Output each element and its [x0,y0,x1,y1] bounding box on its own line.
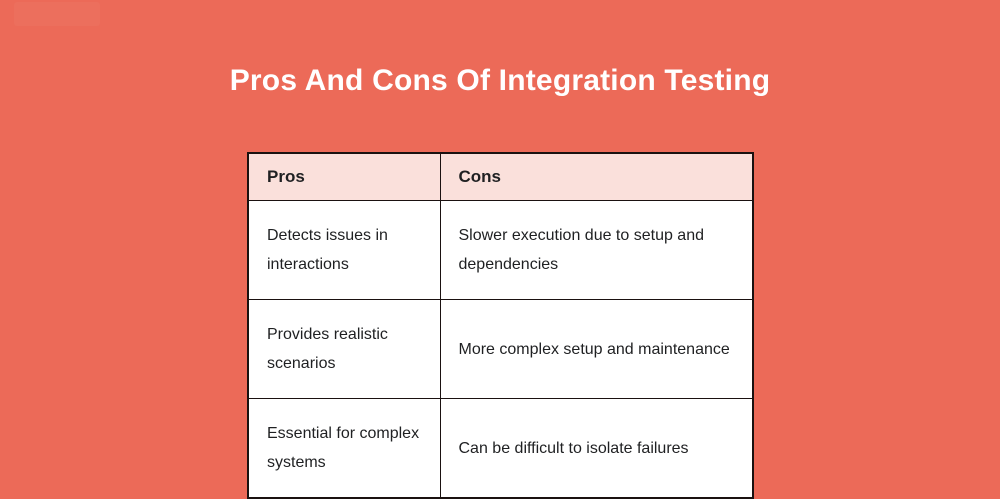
column-header-cons: Cons [440,153,753,201]
slide-canvas: Pros And Cons Of Integration Testing Pro… [0,0,1000,498]
table-header: Pros Cons [248,153,753,201]
cell-pros: Essential for complex systems [248,399,440,499]
cell-pros: Detects issues in interactions [248,201,440,300]
table-row: Provides realistic scenarios More comple… [248,300,753,399]
cell-pros: Provides realistic scenarios [248,300,440,399]
page-title: Pros And Cons Of Integration Testing [0,62,1000,100]
pros-cons-table: Pros Cons Detects issues in interactions… [247,152,754,499]
table-row: Essential for complex systems Can be dif… [248,399,753,499]
table-header-row: Pros Cons [248,153,753,201]
cell-cons: Slower execution due to setup and depend… [440,201,753,300]
cell-cons: More complex setup and maintenance [440,300,753,399]
watermark-artifact [14,2,100,26]
table-row: Detects issues in interactions Slower ex… [248,201,753,300]
pros-cons-table-container: Pros Cons Detects issues in interactions… [247,152,752,499]
cell-cons: Can be difficult to isolate failures [440,399,753,499]
column-header-pros: Pros [248,153,440,201]
table-body: Detects issues in interactions Slower ex… [248,201,753,499]
